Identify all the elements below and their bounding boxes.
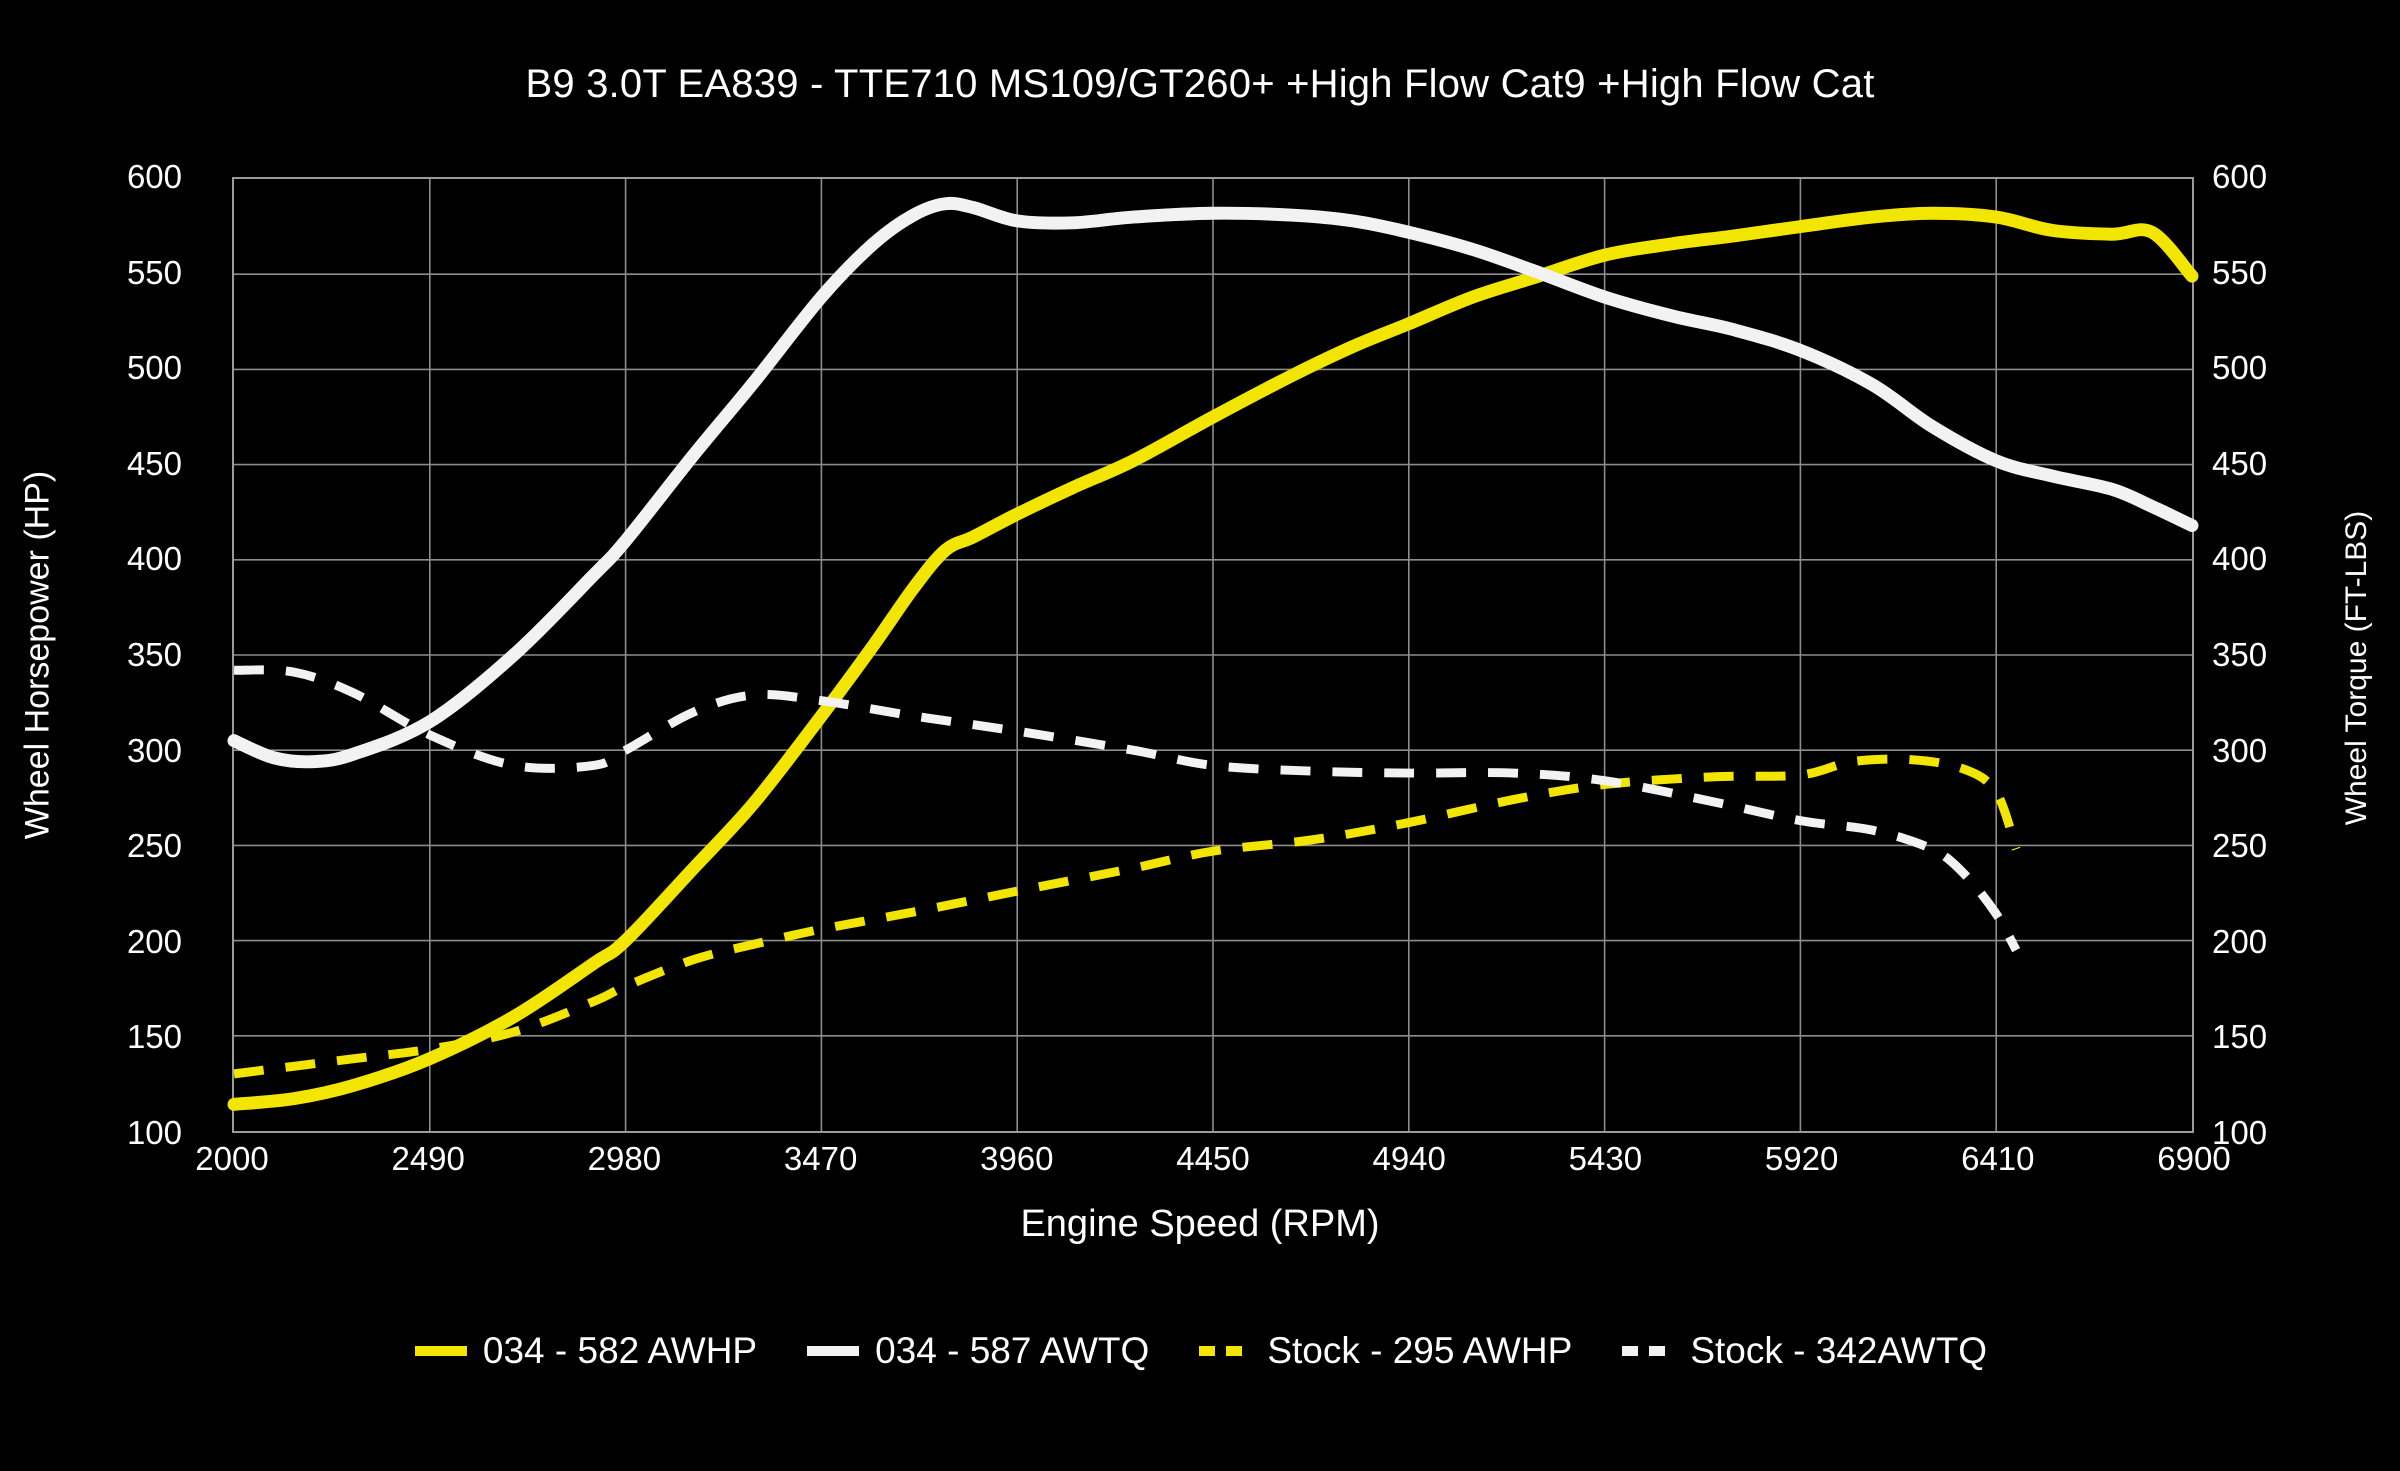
dyno-chart: B9 3.0T EA839 - TTE710 MS109/GT260+ +Hig…: [0, 0, 2400, 1471]
chart-legend: 034 - 582 AWHP034 - 587 AWTQStock - 295 …: [0, 1330, 2400, 1372]
y2-axis-tick-label: 300: [2212, 732, 2352, 770]
legend-swatch-icon: [1197, 1334, 1253, 1368]
y-axis-tick-label: 600: [52, 158, 182, 196]
legend-label: Stock - 295 AWHP: [1267, 1330, 1572, 1372]
legend-label: 034 - 582 AWHP: [483, 1330, 757, 1372]
x-axis-tick-label: 2490: [391, 1140, 464, 1178]
x-axis-tick-label: 5920: [1765, 1140, 1838, 1178]
y2-axis-title: Wheel Torque (FT-LBS): [2340, 511, 2374, 826]
legend-item[interactable]: 034 - 587 AWTQ: [805, 1330, 1149, 1372]
y2-axis-tick-label: 100: [2212, 1114, 2352, 1152]
series-line: [234, 203, 2192, 761]
x-axis-tick-label: 3960: [980, 1140, 1053, 1178]
x-axis-tick-label: 6410: [1961, 1140, 2034, 1178]
y-axis-tick-label: 450: [52, 445, 182, 483]
y2-axis-tick-label: 600: [2212, 158, 2352, 196]
x-axis-tick-label: 5430: [1569, 1140, 1642, 1178]
y-axis-tick-label: 550: [52, 254, 182, 292]
legend-swatch-icon: [413, 1334, 469, 1368]
y-axis-tick-label: 150: [52, 1018, 182, 1056]
x-axis-tick-label: 6900: [2157, 1140, 2230, 1178]
y-axis-tick-label: 250: [52, 827, 182, 865]
y2-axis-tick-label: 350: [2212, 636, 2352, 674]
legend-item[interactable]: Stock - 295 AWHP: [1197, 1330, 1572, 1372]
series-line: [234, 670, 2016, 950]
y2-axis-tick-label: 400: [2212, 540, 2352, 578]
y2-axis-tick-label: 550: [2212, 254, 2352, 292]
x-axis-tick-label: 4940: [1372, 1140, 1445, 1178]
y2-axis-tick-label: 500: [2212, 349, 2352, 387]
plot-area: [232, 177, 2194, 1133]
chart-title: B9 3.0T EA839 - TTE710 MS109/GT260+ +Hig…: [0, 62, 2400, 107]
y2-axis-tick-label: 150: [2212, 1018, 2352, 1056]
y-axis-tick-label: 500: [52, 349, 182, 387]
y-axis-tick-label: 350: [52, 636, 182, 674]
x-axis-tick-label: 2000: [195, 1140, 268, 1178]
series-lines: [234, 179, 2192, 1131]
y-axis-title: Wheel Horsepower (HP): [19, 471, 58, 839]
legend-label: 034 - 587 AWTQ: [875, 1330, 1149, 1372]
y-axis-tick-label: 200: [52, 923, 182, 961]
legend-item[interactable]: Stock - 342AWTQ: [1620, 1330, 1987, 1372]
x-axis-tick-label: 3470: [784, 1140, 857, 1178]
legend-swatch-icon: [1620, 1334, 1676, 1368]
x-axis-title: Engine Speed (RPM): [0, 1203, 2400, 1246]
x-axis-tick-label: 4450: [1176, 1140, 1249, 1178]
legend-item[interactable]: 034 - 582 AWHP: [413, 1330, 757, 1372]
y-axis-tick-label: 400: [52, 540, 182, 578]
y2-axis-tick-label: 450: [2212, 445, 2352, 483]
x-axis-tick-label: 2980: [588, 1140, 661, 1178]
y-axis-tick-label: 100: [52, 1114, 182, 1152]
legend-label: Stock - 342AWTQ: [1690, 1330, 1987, 1372]
y2-axis-tick-label: 200: [2212, 923, 2352, 961]
series-line: [234, 213, 2192, 1104]
y2-axis-tick-label: 250: [2212, 827, 2352, 865]
y-axis-tick-label: 300: [52, 732, 182, 770]
legend-swatch-icon: [805, 1334, 861, 1368]
